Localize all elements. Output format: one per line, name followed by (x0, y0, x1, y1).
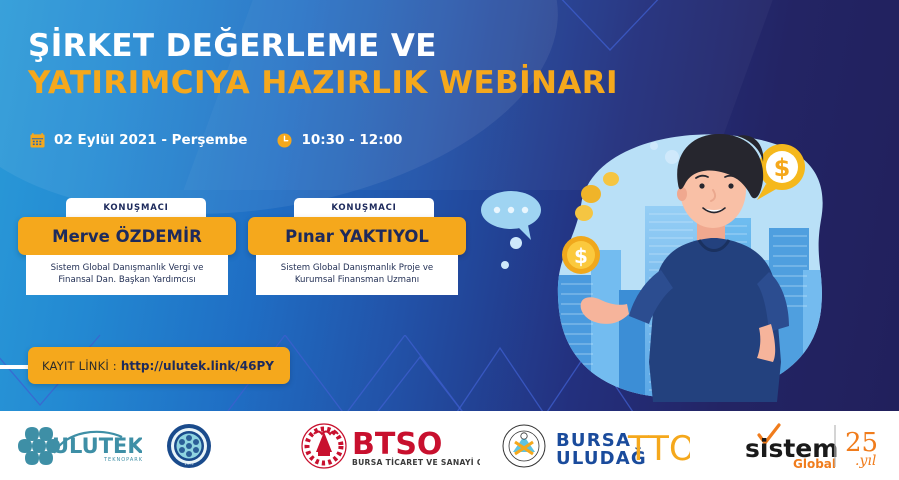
ulutek-subtext: TEKNOPARK (103, 457, 142, 463)
speaker-tab-label-1: KONUŞMACI (103, 203, 168, 213)
svg-text:$: $ (774, 154, 791, 182)
speaker-name-1: Merve ÖZDEMİR (52, 227, 202, 246)
bursa-uludag-tto-logo: BURSA ULUDAĞ TTO (500, 422, 690, 470)
speaker-desc-1-line1: Sistem Global Danışmanlık Vergi ve (33, 262, 221, 274)
hero-illustration: $ $ (469, 110, 899, 411)
clock-icon (277, 133, 292, 148)
tto-seal (503, 425, 545, 467)
registration-link-row: KAYIT LİNKİ : http://ulutek.link/46PY (0, 347, 300, 387)
btso-gear-emblem (302, 424, 346, 468)
speaker-tab-2: KONUŞMACI (294, 198, 434, 217)
speaker-name-bar-2: Pınar YAKTIYOL (248, 217, 466, 255)
seal-year: 1975 (184, 462, 193, 466)
bubble-small-1 (650, 142, 658, 150)
speaker-card-1: KONUŞMACI Merve ÖZDEMİR Sistem Global Da… (36, 198, 236, 295)
title-line-2: YATIRIMCIYA HAZIRLIK WEBİNARI (28, 65, 618, 102)
speaker-card-2: KONUŞMACI Pınar YAKTIYOL Sistem Global D… (264, 198, 464, 295)
speaker-desc-2-line2: Kurumsal Finansman Uzmanı (263, 274, 451, 286)
speaker-desc-2-line1: Sistem Global Danışmanlık Proje ve (263, 262, 451, 274)
banner-hero: ŞİRKET DEĞERLEME VE YATIRIMCIYA HAZIRLIK… (0, 0, 899, 411)
speech-bubble-dots (481, 191, 541, 240)
speaker-tab-1: KONUŞMACI (66, 198, 206, 217)
btso-wordmark: BTSO (352, 427, 442, 462)
calendar-icon (30, 133, 45, 148)
speaker-desc-1-line2: Finansal Dan. Başkan Yardımcısı (33, 274, 221, 286)
speaker-name-2: Pınar YAKTIYOL (285, 227, 429, 246)
speaker-desc-2: Sistem Global Danışmanlık Proje ve Kurum… (256, 255, 458, 295)
tto-text-tto: TTO (627, 429, 690, 469)
speaker-tab-label-2: KONUŞMACI (331, 203, 396, 213)
ulutek-wordmark: ULUTEK (52, 434, 142, 458)
registration-url[interactable]: http://ulutek.link/46PY (121, 359, 274, 373)
speaker-name-bar-1: Merve ÖZDEMİR (18, 217, 236, 255)
coin-dollar-large: $ (562, 236, 600, 274)
event-time: 10:30 - 12:00 (301, 132, 402, 148)
registration-label: KAYIT LİNKİ : (42, 359, 117, 373)
event-meta-row: 02 Eylül 2021 - Perşembe 10:30 - 12:00 (30, 132, 402, 148)
registration-link-box[interactable]: KAYIT LİNKİ : http://ulutek.link/46PY (28, 347, 290, 384)
event-date: 02 Eylül 2021 - Perşembe (54, 132, 247, 148)
anniversary-label: .yıl (855, 453, 876, 469)
title-block: ŞİRKET DEĞERLEME VE YATIRIMCIYA HAZIRLIK… (28, 28, 618, 101)
bursa-uludag-university-seal: 1975 (166, 423, 212, 469)
footer-logo-bar: ULUTEK TEKNOPARK 1975 (0, 411, 899, 480)
sistem-global-logo: sistem Global 25 .yıl (735, 421, 885, 471)
sistem-global-subtext: Global (793, 457, 836, 471)
title-line-1: ŞİRKET DEĞERLEME VE (28, 28, 618, 65)
speaker-desc-1: Sistem Global Danışmanlık Vergi ve Finan… (26, 255, 228, 295)
bubble-small-3 (510, 237, 522, 249)
ulutek-logo: ULUTEK TEKNOPARK (18, 423, 142, 469)
bubble-small-4 (501, 261, 509, 269)
btso-subtext: BURSA TİCARET VE SANAYİ ODASI (352, 458, 480, 467)
bubble-small-2 (665, 150, 679, 164)
webinar-banner-page: ŞİRKET DEĞERLEME VE YATIRIMCIYA HAZIRLIK… (0, 0, 899, 480)
svg-text:$: $ (574, 244, 588, 268)
btso-logo: BTSO BURSA TİCARET VE SANAYİ ODASI (300, 422, 480, 470)
